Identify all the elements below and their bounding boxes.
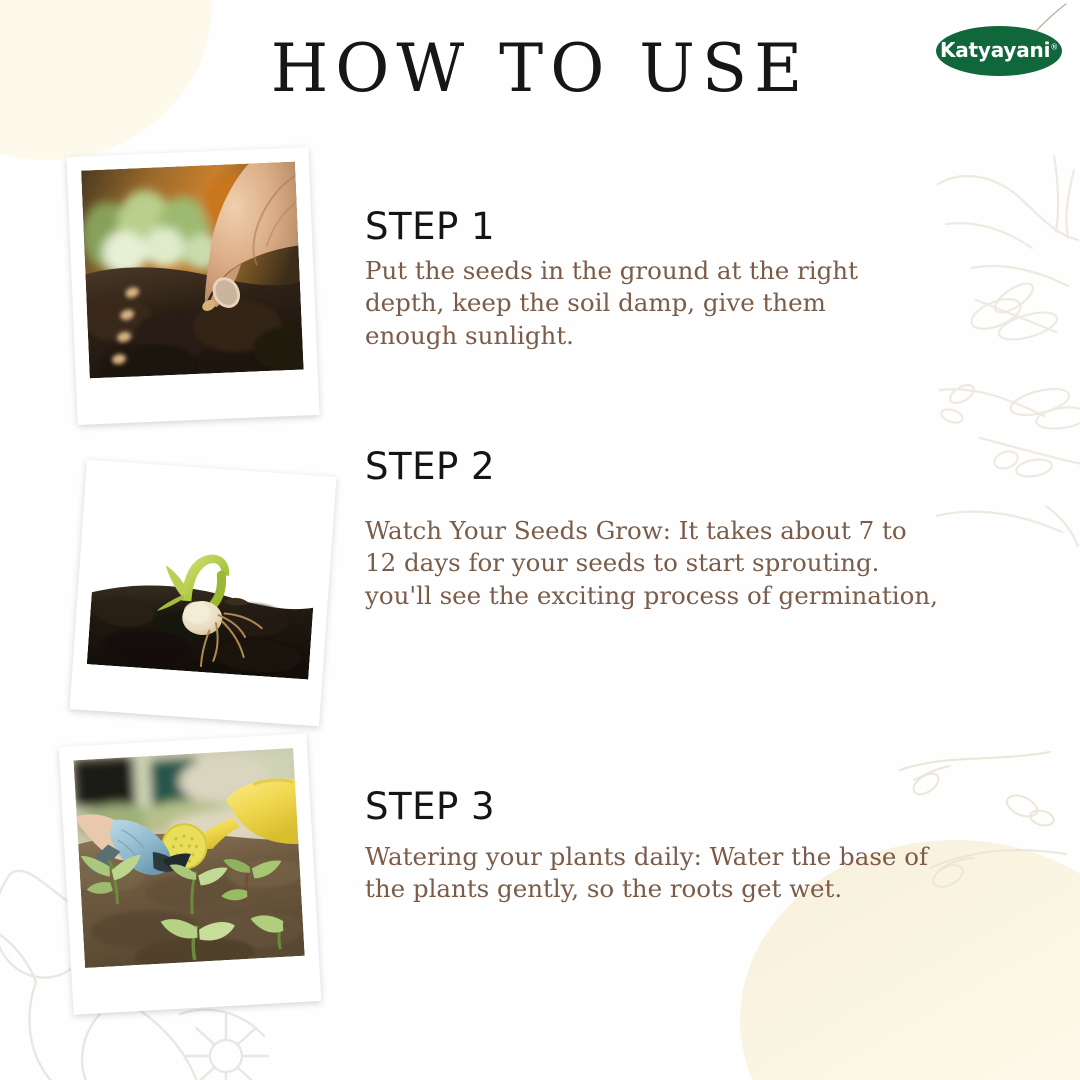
step-1-body: Put the seeds in the ground at the right…	[365, 255, 858, 353]
step-1-photo	[81, 162, 304, 379]
step-2-heading: STEP 2	[365, 448, 938, 487]
step-2-body: Watch Your Seeds Grow: It takes about 7 …	[365, 515, 938, 613]
step-1-heading: STEP 1	[365, 208, 858, 247]
step-3-body: Watering your plants daily: Water the ba…	[365, 841, 928, 906]
step-1-block: STEP 1 Put the seeds in the ground at th…	[365, 208, 858, 353]
step-3-block: STEP 3 Watering your plants daily: Water…	[365, 788, 928, 906]
step-2-photo-frame	[70, 460, 337, 727]
step-2-block: STEP 2 Watch Your Seeds Grow: It takes a…	[365, 448, 938, 613]
step-2-photo	[87, 475, 322, 680]
botanical-line-art-right-icon	[936, 150, 1080, 570]
step-3-heading: STEP 3	[365, 788, 928, 827]
step-1-photo-frame	[66, 147, 319, 425]
page-title: HOW TO USE	[0, 36, 1080, 102]
step-3-photo	[73, 748, 304, 968]
step-3-photo-frame	[59, 733, 322, 1014]
poster-canvas: Katyayani® HOW TO USE	[0, 0, 1080, 1080]
